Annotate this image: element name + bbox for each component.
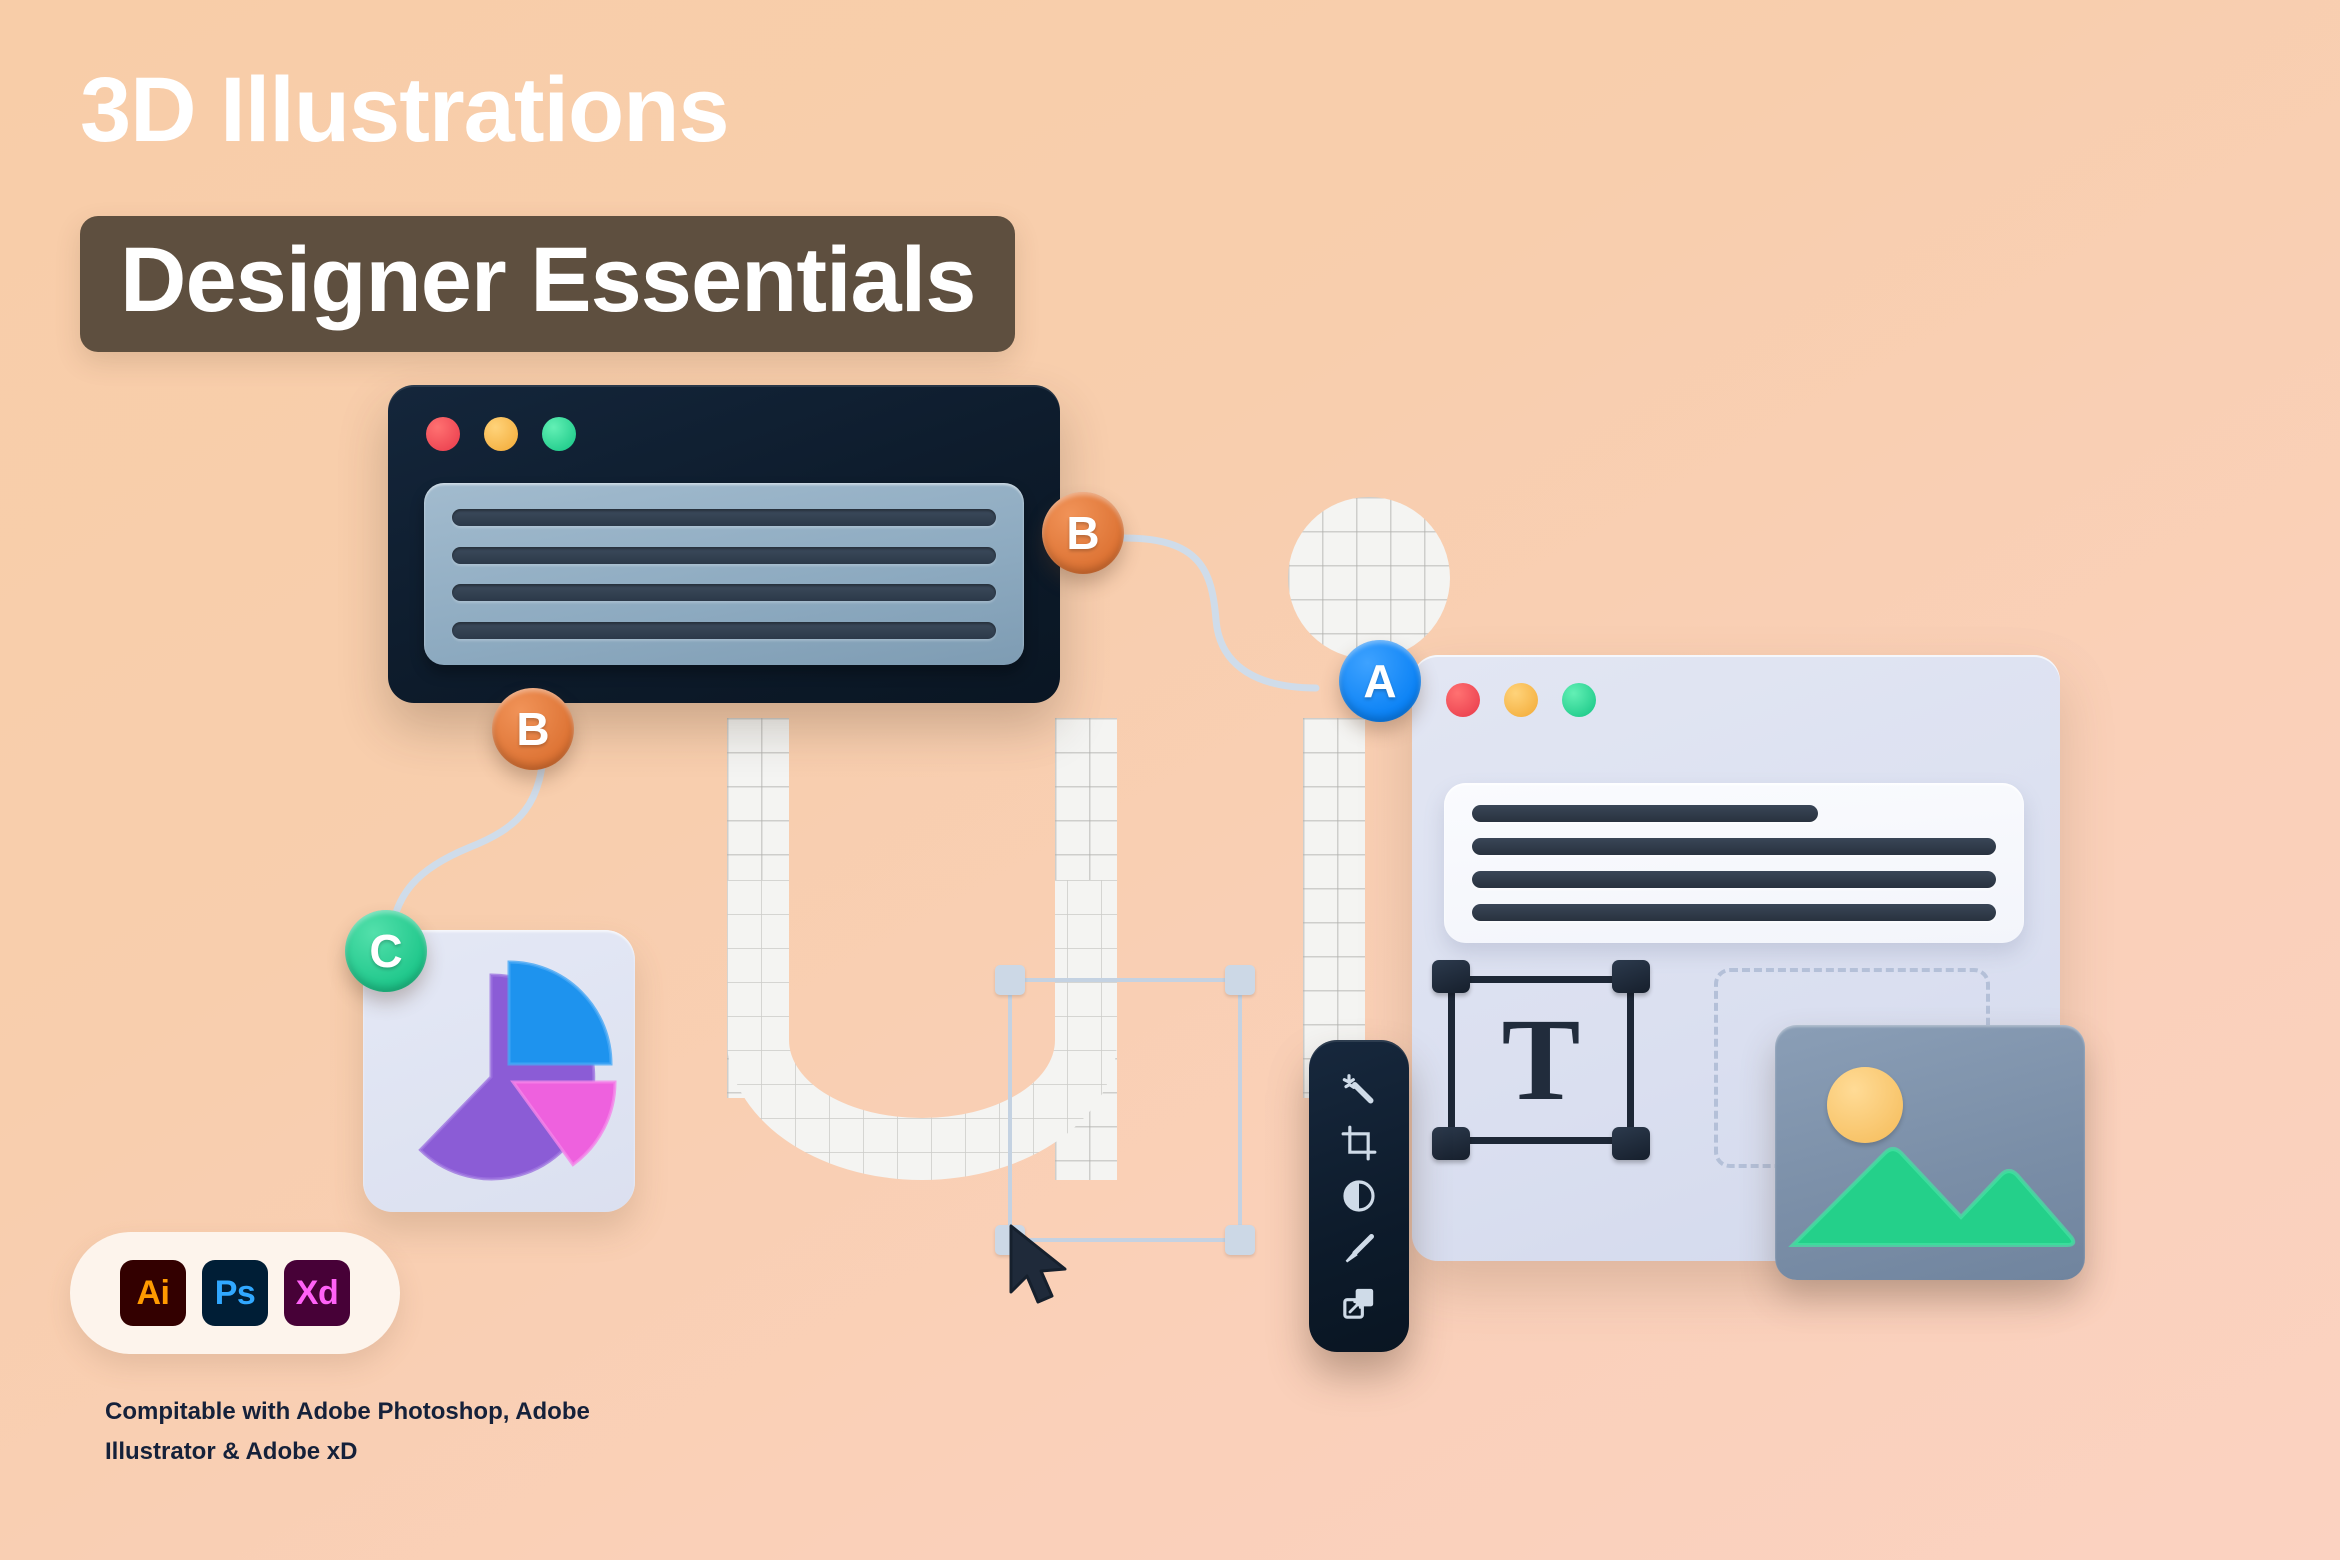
connector-badge-b-1[interactable]: B <box>1042 492 1124 574</box>
connector-badge-b-2[interactable]: B <box>492 688 574 770</box>
text-line <box>452 622 996 639</box>
text-tool-selection[interactable]: T <box>1432 960 1650 1160</box>
mountain-icon <box>1775 1025 2085 1280</box>
badge-label: B <box>516 702 549 756</box>
text-line <box>452 584 996 601</box>
text-line <box>1472 805 1818 822</box>
magic-wand-icon[interactable] <box>1337 1067 1381 1111</box>
caption-line-2: Illustrator & Adobe xD <box>105 1432 590 1472</box>
minimize-button[interactable] <box>484 417 518 451</box>
subtitle-badge-label: Designer Essentials <box>120 234 975 326</box>
background-letter-i-dot <box>1288 497 1450 659</box>
brush-icon[interactable] <box>1337 1227 1381 1271</box>
photoshop-icon[interactable]: Ps <box>202 1260 268 1326</box>
pie-chart <box>379 952 619 1192</box>
light-window-traffic-lights <box>1446 683 1596 717</box>
caption-line-1: Compitable with Adobe Photoshop, Adobe <box>105 1392 590 1432</box>
resize-handle-top-left[interactable] <box>1432 960 1470 993</box>
badge-label: B <box>1066 506 1099 560</box>
light-window-content-card <box>1444 783 2024 943</box>
dark-window-content-panel <box>424 483 1024 665</box>
adobe-compatibility-pill: Ai Ps Xd <box>70 1232 400 1354</box>
dark-window-traffic-lights <box>426 417 576 451</box>
resize-handle-bottom-right[interactable] <box>1612 1127 1650 1160</box>
dark-browser-window[interactable] <box>388 385 1060 703</box>
subtitle-badge: Designer Essentials <box>80 216 1015 352</box>
illustrator-icon[interactable]: Ai <box>120 1260 186 1326</box>
maximize-button[interactable] <box>1562 683 1596 717</box>
xd-icon[interactable]: Xd <box>284 1260 350 1326</box>
crop-icon[interactable] <box>1337 1121 1381 1165</box>
resize-handle-bottom-left[interactable] <box>1432 1127 1470 1160</box>
connector-badge-a[interactable]: A <box>1339 640 1421 722</box>
selection-frame <box>1008 978 1242 1242</box>
resize-handle-top-right[interactable] <box>1612 960 1650 993</box>
close-button[interactable] <box>426 417 460 451</box>
page-title: 3D Illustrations <box>80 62 729 159</box>
resize-handle-top-right[interactable] <box>1225 965 1255 995</box>
illustrator-label: Ai <box>137 1274 170 1313</box>
photoshop-label: Ps <box>215 1274 256 1313</box>
compatibility-caption: Compitable with Adobe Photoshop, Adobe I… <box>105 1392 590 1471</box>
contrast-icon[interactable] <box>1337 1174 1381 1218</box>
text-line <box>452 547 996 564</box>
maximize-button[interactable] <box>542 417 576 451</box>
editor-toolbar[interactable] <box>1309 1040 1409 1352</box>
transform-icon[interactable] <box>1337 1281 1381 1325</box>
badge-label: A <box>1363 654 1396 708</box>
text-line <box>452 509 996 526</box>
image-thumbnail[interactable] <box>1775 1025 2085 1280</box>
close-button[interactable] <box>1446 683 1480 717</box>
badge-label: C <box>369 924 402 978</box>
canvas-selection-box[interactable] <box>995 965 1255 1255</box>
mouse-cursor-icon <box>1005 1222 1077 1310</box>
xd-label: Xd <box>296 1274 338 1313</box>
resize-handle-bottom-right[interactable] <box>1225 1225 1255 1255</box>
resize-handle-top-left[interactable] <box>995 965 1025 995</box>
minimize-button[interactable] <box>1504 683 1538 717</box>
text-line <box>1472 904 1996 921</box>
illustration-canvas: 3D Illustrations Designer Essentials <box>0 0 2340 1560</box>
text-line <box>1472 871 1996 888</box>
connector-badge-c[interactable]: C <box>345 910 427 992</box>
text-line <box>1472 838 1996 855</box>
